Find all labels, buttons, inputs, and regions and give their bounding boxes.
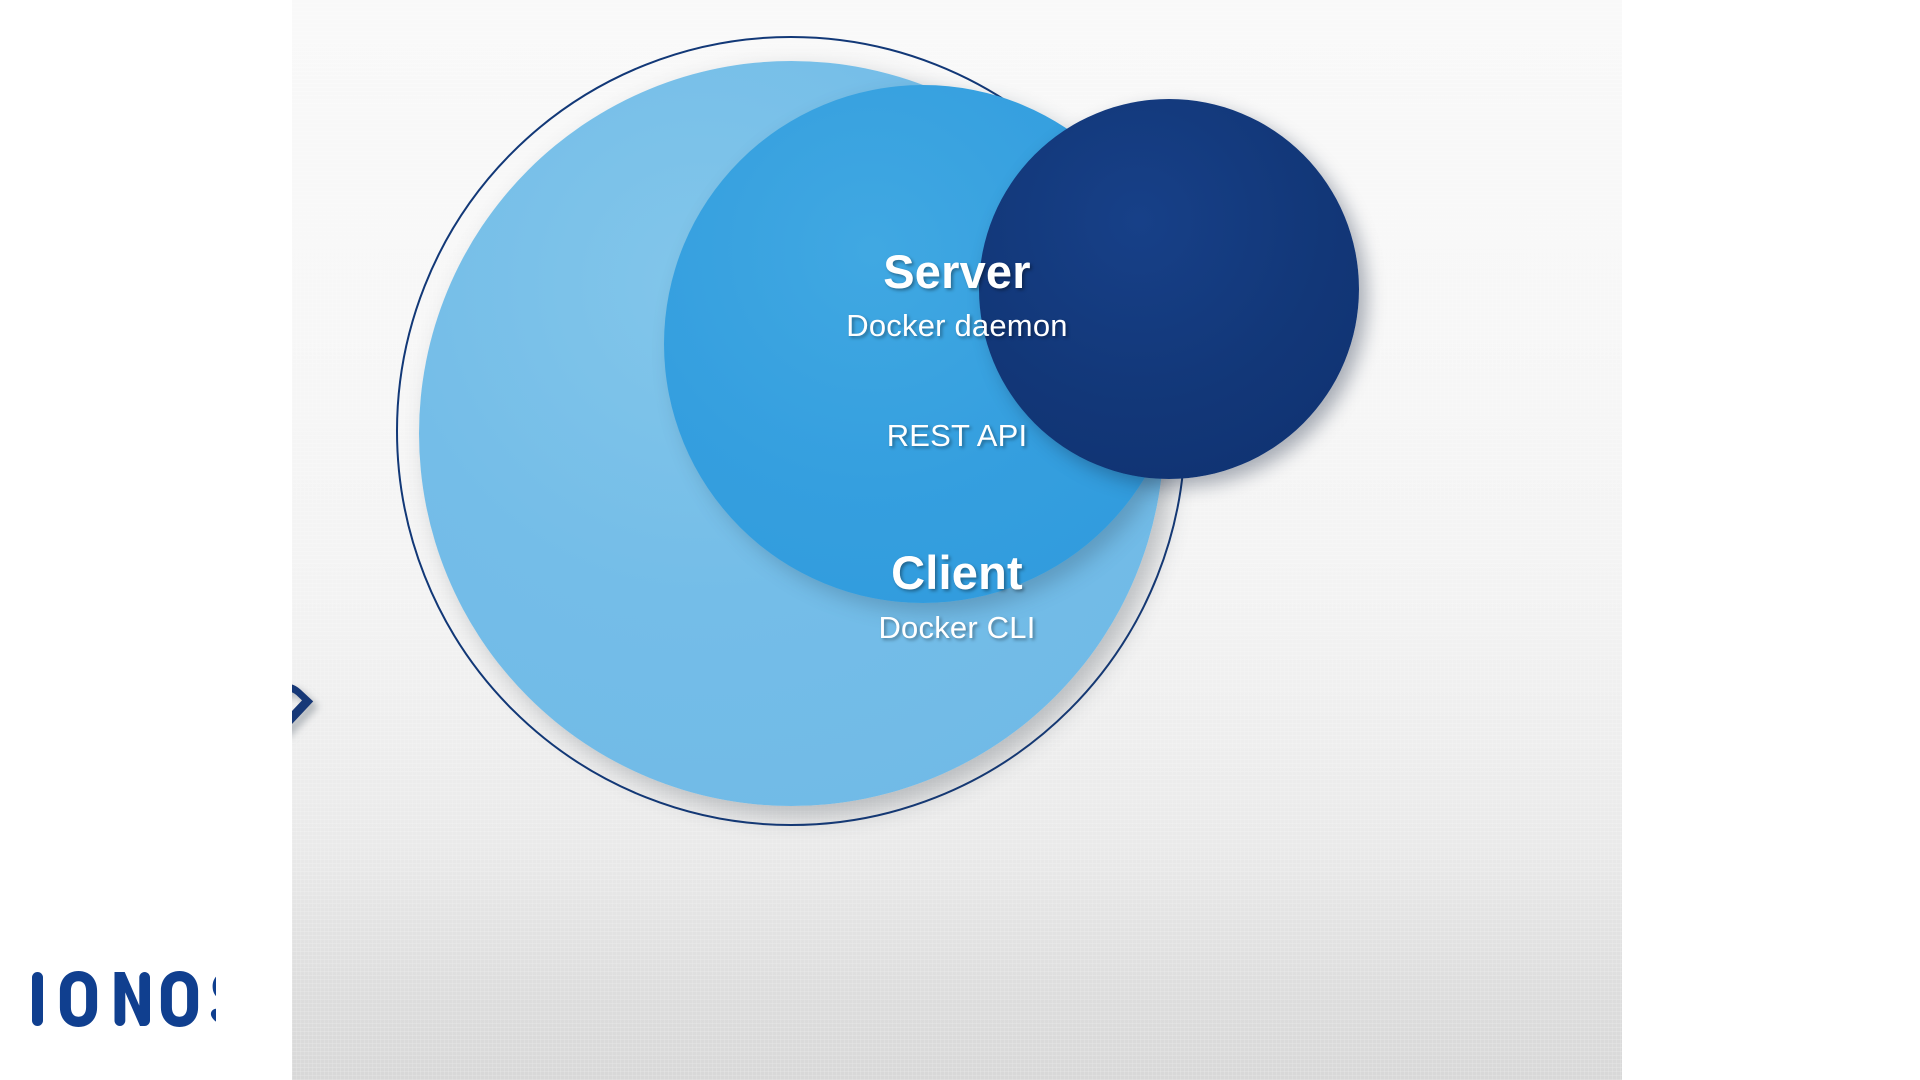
- slide-content-area: Server Docker daemon REST API Client Doc…: [292, 0, 1622, 1080]
- ionos-logo: [28, 968, 216, 1030]
- client-subtitle-label: Docker CLI: [292, 610, 1622, 646]
- docker-architecture-diagram: Server Docker daemon REST API Client Doc…: [292, 0, 1622, 1080]
- rest-api-circle: [664, 85, 1182, 603]
- svg-text:Docker engine: Docker engine: [292, 307, 326, 744]
- ionos-wordmark-icon: [28, 968, 216, 1030]
- client-title-label: Client: [292, 545, 1622, 600]
- slide-page: Server Docker daemon REST API Client Doc…: [0, 0, 1920, 1080]
- server-subtitle-label: Docker daemon: [292, 308, 1622, 344]
- rest-api-label: REST API: [292, 418, 1622, 454]
- server-title-label: Server: [292, 244, 1622, 299]
